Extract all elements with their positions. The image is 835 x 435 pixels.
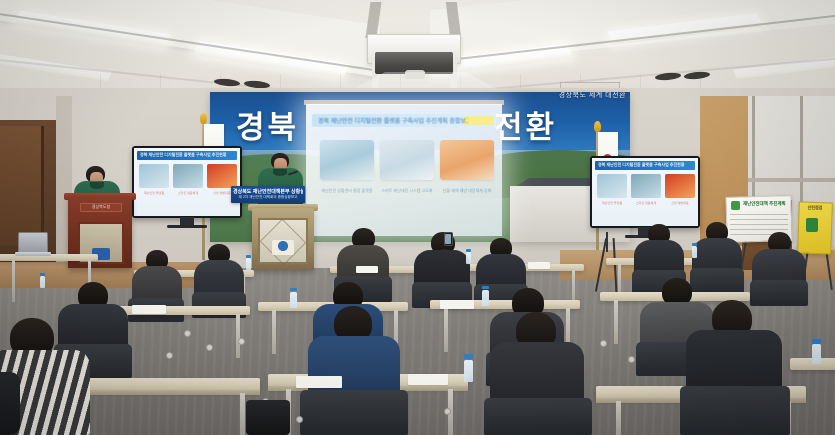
floor-bag bbox=[246, 400, 290, 435]
document-paper bbox=[296, 376, 342, 388]
chair-caster bbox=[184, 330, 191, 337]
tv-right-thumbnail bbox=[631, 174, 661, 198]
conference-room-photo: 경상북도 세계 대전환 경북 전환 경북 재난안전 디지털전환 플랫폼 구축사업… bbox=[0, 0, 835, 435]
bottle-cap bbox=[464, 354, 473, 359]
water-bottle bbox=[246, 258, 251, 270]
banner-title-right: 전환 bbox=[494, 102, 557, 147]
bottle-cap bbox=[812, 339, 821, 344]
tv-monitor-left: 경북 재난안전 디지털전환 플랫폼 구축사업 추진현황 재난안전 플랫폼 스마트… bbox=[132, 146, 242, 218]
tv-right-thumbnail bbox=[665, 174, 695, 198]
chair-caster bbox=[166, 352, 173, 359]
document-paper bbox=[132, 305, 166, 314]
projection-screen: 경북 재난안전 디지털전환 플랫폼 구축사업 추진계획 종합보고 재난안전 상황… bbox=[306, 104, 502, 236]
center-podium-banner-line2: 제 2차 재난안전 대책회의 종합상황보고 bbox=[233, 195, 303, 200]
tv-right-title-text: 경북 재난안전 디지털전환 플랫폼 구축사업 추진현황 bbox=[598, 162, 692, 168]
chair-caster bbox=[238, 338, 245, 345]
tv-right-thumbnail bbox=[597, 174, 627, 198]
table-leg bbox=[614, 300, 618, 344]
water-bottle bbox=[290, 292, 297, 308]
tv-right-display: 경북 재난안전 디지털전환 플랫폼 구축사업 추진현황 재난안전 플랫폼 스마트… bbox=[592, 158, 698, 226]
safety-mark-icon bbox=[806, 218, 818, 232]
tripod-column bbox=[606, 232, 608, 252]
table-leg bbox=[616, 401, 621, 435]
slide-image-card bbox=[440, 140, 494, 180]
water-bottle bbox=[40, 276, 45, 288]
audience-chair bbox=[300, 390, 408, 435]
tv-left-thumbnail bbox=[207, 164, 237, 188]
chair-caster bbox=[444, 408, 451, 415]
left-door bbox=[0, 126, 44, 246]
water-bottle bbox=[812, 344, 821, 364]
document-paper bbox=[356, 266, 378, 273]
flag-finial-icon bbox=[594, 121, 601, 132]
audience-vest bbox=[0, 372, 20, 435]
audience-chair bbox=[750, 280, 808, 306]
bottle-cap bbox=[40, 273, 45, 276]
chair-caster bbox=[600, 340, 607, 347]
water-bottle bbox=[482, 290, 489, 306]
slide-title-highlight bbox=[464, 116, 494, 125]
bottle-cap bbox=[482, 286, 489, 289]
table-leg bbox=[444, 308, 448, 352]
table-edge bbox=[60, 390, 260, 395]
document-paper bbox=[440, 300, 474, 309]
water-bottle bbox=[464, 360, 473, 382]
tv-right-caption: 스마트 대응체계 bbox=[631, 201, 661, 217]
tv-left-thumbnail bbox=[173, 164, 203, 188]
slide-title-text: 경북 재난안전 디지털전환 플랫폼 구축사업 추진계획 종합보고 bbox=[318, 116, 468, 125]
water-bottle bbox=[692, 246, 697, 258]
table-leg bbox=[12, 260, 15, 302]
bottle-cap bbox=[290, 288, 297, 291]
document-paper bbox=[408, 374, 448, 385]
banner-title-left: 경북 bbox=[236, 102, 299, 147]
tv-left-caption: 재난안전 플랫폼 bbox=[139, 191, 169, 207]
laptop-keyboard bbox=[15, 252, 51, 256]
document-paper bbox=[528, 262, 550, 269]
left-podium-nameplate-text: 경상북도청 bbox=[82, 204, 120, 210]
flag-finial-icon bbox=[200, 113, 207, 124]
audience-chair bbox=[690, 268, 744, 294]
tv-right-caption: 산불 예방대응 bbox=[665, 201, 695, 217]
smartphone-screen bbox=[445, 234, 451, 244]
bottle-cap bbox=[692, 243, 697, 246]
bottle-cap bbox=[466, 249, 471, 252]
tv-left-caption: 스마트 대응체계 bbox=[173, 191, 203, 207]
tv-left-thumbnail bbox=[139, 164, 169, 188]
slide-card-caption: 산불·재해 예방 대응체계 강화 bbox=[440, 188, 494, 210]
tv-right-caption: 재난안전 플랫폼 bbox=[597, 201, 627, 217]
chair-caster bbox=[628, 356, 635, 363]
slide-image-card bbox=[320, 140, 374, 180]
table-leg bbox=[572, 270, 575, 304]
slide-image-card bbox=[380, 140, 434, 180]
bottle-cap bbox=[246, 255, 251, 258]
glass-sill bbox=[748, 178, 835, 182]
tv-left-base bbox=[167, 225, 207, 228]
tv-monitor-right: 경북 재난안전 디지털전환 플랫폼 구축사업 추진현황 재난안전 플랫폼 스마트… bbox=[590, 156, 700, 228]
center-podium-banner-line1: 경상북도 재난안전대책본부 상황실 bbox=[233, 188, 303, 195]
presenter-center-collar bbox=[273, 169, 287, 176]
laptop-screen bbox=[18, 232, 48, 254]
tv-left-title-text: 경북 재난안전 디지털전환 플랫폼 구축사업 추진현황 bbox=[140, 152, 234, 158]
projector-lens-icon bbox=[405, 70, 425, 79]
slide-card-caption: 재난안전 상황관리 통합 플랫폼 bbox=[320, 188, 374, 210]
table-leg bbox=[240, 393, 245, 435]
chair-caster bbox=[296, 416, 303, 423]
center-podium-emblem-icon bbox=[272, 240, 294, 255]
safety-mark-icon bbox=[731, 201, 740, 210]
table-leg bbox=[272, 310, 276, 354]
audience-chair bbox=[680, 386, 790, 435]
slide-card-caption: 스마트 재난대응 시스템 고도화 bbox=[380, 188, 434, 210]
chair-caster bbox=[206, 344, 213, 351]
tv-left-display: 경북 재난안전 디지털전환 플랫폼 구축사업 추진현황 재난안전 플랫폼 스마트… bbox=[134, 148, 240, 216]
presenter-left-collar bbox=[90, 182, 104, 189]
table-leg bbox=[236, 314, 240, 358]
white-board-title: 재난안전대책 추진계획 bbox=[743, 201, 789, 207]
yellow-board-header: 안전점검 bbox=[800, 205, 830, 211]
audience-chair bbox=[484, 398, 592, 435]
water-bottle bbox=[466, 252, 471, 264]
